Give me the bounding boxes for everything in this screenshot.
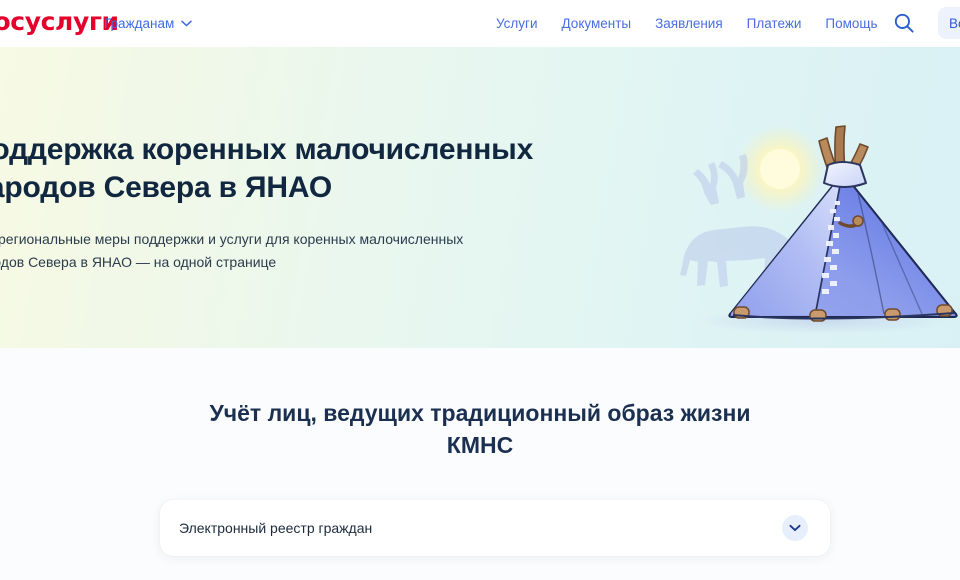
hero-text-block: Поддержка коренных малочисленных народов… bbox=[0, 131, 570, 274]
citizens-dropdown[interactable]: Гражданам bbox=[104, 16, 192, 31]
nav-item-documents[interactable]: Документы bbox=[562, 16, 632, 31]
sun-core bbox=[760, 149, 800, 189]
login-button[interactable]: Войти bbox=[938, 7, 960, 39]
logo-text-rest: осуслуги bbox=[0, 7, 119, 36]
gosuslugi-logo[interactable]: Госуслуги bbox=[0, 9, 119, 34]
page-title: Учёт лиц, ведущих традиционный образ жиз… bbox=[0, 398, 960, 461]
nav-item-applications[interactable]: Заявления bbox=[655, 16, 723, 31]
chevron-down-icon[interactable] bbox=[782, 515, 808, 541]
site-header: Госуслуги Гражданам Услуги Документы Зая… bbox=[0, 0, 960, 47]
nav-item-help[interactable]: Помощь bbox=[825, 16, 877, 31]
main-navigation: Услуги Документы Заявления Платежи Помощ… bbox=[496, 16, 878, 31]
chevron-down-icon bbox=[181, 20, 192, 27]
hero-banner: Поддержка коренных малочисленных народов… bbox=[0, 47, 960, 348]
login-button-label: Войти bbox=[949, 16, 960, 31]
accordion-label: Электронный реестр граждан bbox=[179, 520, 782, 536]
nav-item-services[interactable]: Услуги bbox=[496, 16, 538, 31]
citizens-dropdown-label: Гражданам bbox=[104, 16, 174, 31]
search-icon[interactable] bbox=[893, 12, 915, 34]
tent-collar bbox=[824, 162, 866, 187]
nav-item-payments[interactable]: Платежи bbox=[747, 16, 802, 31]
chum-tent-illustration bbox=[672, 83, 960, 345]
accordion-electronic-registry[interactable]: Электронный реестр граждан bbox=[160, 500, 830, 556]
hero-subtitle: Все региональные меры поддержки и услуги… bbox=[0, 228, 570, 273]
hero-title: Поддержка коренных малочисленных народов… bbox=[0, 131, 570, 207]
